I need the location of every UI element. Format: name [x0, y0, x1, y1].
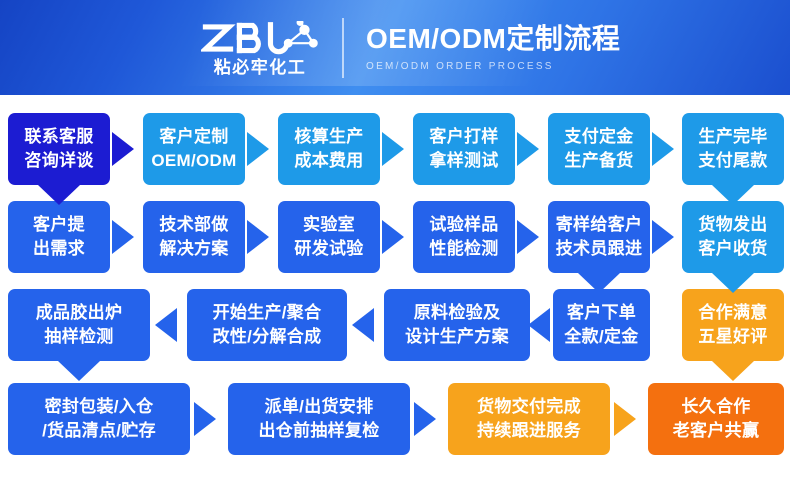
flow-step-line1: 客户打样	[429, 126, 498, 148]
flow-step-r2n4[interactable]: 试验样品性能检测	[413, 201, 515, 273]
header-divider	[342, 18, 344, 78]
flow-step-line2: 设计生产方案	[405, 326, 509, 348]
flow-step-line2: 支付尾款	[698, 150, 767, 172]
flow-step-line2: 抽样检测	[44, 326, 113, 348]
process-flow-infographic: 粘必牢化工 OEM/ODM定制流程 OEM/ODM ORDER PROCESS …	[0, 0, 790, 490]
flow-step-r1n2[interactable]: 客户定制OEM/ODM	[143, 113, 245, 185]
flow-step-line2: 出需求	[33, 238, 85, 260]
flow-arrow-down-c-d4	[712, 273, 754, 293]
flow-arrow-right-c-r2-5	[652, 220, 674, 254]
zbl-molecule-network-icon	[201, 21, 319, 55]
flow-arrow-right-c-r2-3	[382, 220, 404, 254]
flow-step-line1: 原料检验及	[414, 302, 501, 324]
flow-step-line2: 全款/定金	[564, 326, 638, 348]
flow-arrow-down-c-d1	[38, 185, 80, 205]
flow-step-line2: 生产备货	[564, 150, 633, 172]
flow-step-line1: 密封包装/入仓	[45, 396, 154, 418]
flow-step-r1n4[interactable]: 客户打样拿样测试	[413, 113, 515, 185]
flow-step-line1: 寄样给客户	[556, 214, 643, 236]
flow-step-r1n3[interactable]: 核算生产成本费用	[278, 113, 380, 185]
flow-step-r1n6[interactable]: 生产完毕支付尾款	[682, 113, 784, 185]
flow-step-line2: 五星好评	[698, 326, 767, 348]
flow-step-r2n5[interactable]: 寄样给客户技术员跟进	[548, 201, 650, 273]
flow-arrow-right-c-r1-2	[247, 132, 269, 166]
flow-step-line2: 性能检测	[429, 238, 498, 260]
flow-step-line2: 老客户共赢	[673, 420, 760, 442]
flow-step-r3n3[interactable]: 原料检验及设计生产方案	[384, 289, 530, 361]
flow-arrow-left-c-r3-2	[352, 308, 374, 342]
flow-diagram: 联系客服咨询详谈客户定制OEM/ODM核算生产成本费用客户打样拿样测试支付定金生…	[0, 95, 790, 490]
page-title: OEM/ODM定制流程	[366, 24, 620, 55]
flow-step-r2n3[interactable]: 实验室研发试验	[278, 201, 380, 273]
flow-arrow-right-c-r4-3	[614, 402, 636, 436]
flow-arrow-down-c-d6	[712, 361, 754, 381]
flow-step-line1: 合作满意	[698, 302, 767, 324]
flow-arrow-right-c-r1-3	[382, 132, 404, 166]
flow-step-r4n1[interactable]: 密封包装/入仓/货品清点/贮存	[8, 383, 190, 455]
flow-step-r2n2[interactable]: 技术部做解决方案	[143, 201, 245, 273]
page-subtitle: OEM/ODM ORDER PROCESS	[366, 62, 620, 72]
flow-step-line1: 生产完毕	[698, 126, 767, 148]
flow-arrow-left-c-r3-1	[155, 308, 177, 342]
flow-step-line2: 咨询详谈	[24, 150, 93, 172]
flow-arrow-down-c-d3	[578, 273, 620, 293]
flow-arrow-right-c-r2-2	[247, 220, 269, 254]
flow-step-line1: 货物交付完成	[477, 396, 581, 418]
flow-step-line2: 改性/分解合成	[213, 326, 322, 348]
flow-step-line2: 解决方案	[159, 238, 228, 260]
flow-arrow-left-c-r3-3	[528, 308, 550, 342]
flow-step-r3n5[interactable]: 合作满意五星好评	[682, 289, 784, 361]
flow-step-line1: 开始生产/聚合	[213, 302, 322, 324]
flow-arrow-right-c-r1-1	[112, 132, 134, 166]
flow-step-r1n1[interactable]: 联系客服咨询详谈	[8, 113, 110, 185]
flow-step-line2: 技术员跟进	[556, 238, 643, 260]
flow-step-r2n1[interactable]: 客户提出需求	[8, 201, 110, 273]
flow-arrow-down-c-d2	[712, 185, 754, 205]
flow-arrow-right-c-r4-1	[194, 402, 216, 436]
flow-step-line1: 成品胶出炉	[36, 302, 123, 324]
flow-step-r4n3[interactable]: 货物交付完成持续跟进服务	[448, 383, 610, 455]
flow-arrow-right-c-r2-4	[517, 220, 539, 254]
flow-step-line2: 出仓前抽样复检	[258, 420, 379, 442]
flow-step-line2: 持续跟进服务	[477, 420, 581, 442]
flow-step-r4n2[interactable]: 派单/出货安排出仓前抽样复检	[228, 383, 410, 455]
page-header: 粘必牢化工 OEM/ODM定制流程 OEM/ODM ORDER PROCESS	[0, 0, 790, 95]
flow-step-line1: 货物发出	[698, 214, 767, 236]
flow-step-line1: 核算生产	[294, 126, 363, 148]
brand-logo: 粘必牢化工	[196, 21, 324, 76]
flow-step-line1: 技术部做	[159, 214, 228, 236]
flow-step-line2: 成本费用	[294, 150, 363, 172]
flow-step-line2: 研发试验	[294, 238, 363, 260]
flow-step-line2: /货品清点/贮存	[42, 420, 156, 442]
flow-step-line1: 联系客服	[24, 126, 93, 148]
flow-step-line1: 客户定制	[159, 126, 228, 148]
flow-arrow-right-c-r4-2	[414, 402, 436, 436]
flow-step-r3n1[interactable]: 成品胶出炉抽样检测	[8, 289, 150, 361]
flow-step-line1: 实验室	[303, 214, 355, 236]
flow-step-r1n5[interactable]: 支付定金生产备货	[548, 113, 650, 185]
flow-step-r2n6[interactable]: 货物发出客户收货	[682, 201, 784, 273]
header-content: 粘必牢化工 OEM/ODM定制流程 OEM/ODM ORDER PROCESS	[196, 13, 620, 83]
flow-step-r4n4[interactable]: 长久合作老客户共赢	[648, 383, 784, 455]
flow-step-line1: 派单/出货安排	[265, 396, 374, 418]
flow-step-line1: 试验样品	[429, 214, 498, 236]
flow-arrow-right-c-r1-4	[517, 132, 539, 166]
flow-step-line1: 客户下单	[567, 302, 636, 324]
flow-step-r3n4[interactable]: 客户下单全款/定金	[553, 289, 650, 361]
flow-step-r3n2[interactable]: 开始生产/聚合改性/分解合成	[187, 289, 347, 361]
flow-arrow-down-c-d5	[58, 361, 100, 381]
flow-step-line2: 客户收货	[698, 238, 767, 260]
flow-step-line1: 客户提	[33, 214, 85, 236]
flow-step-line2: 拿样测试	[429, 150, 498, 172]
flow-step-line1: 长久合作	[681, 396, 750, 418]
flow-step-line2: OEM/ODM	[151, 150, 236, 172]
flow-step-line1: 支付定金	[564, 126, 633, 148]
brand-name-cn: 粘必牢化工	[214, 59, 307, 76]
flow-arrow-right-c-r1-5	[652, 132, 674, 166]
flow-arrow-right-c-r2-1	[112, 220, 134, 254]
header-text-block: OEM/ODM定制流程 OEM/ODM ORDER PROCESS	[366, 24, 620, 72]
